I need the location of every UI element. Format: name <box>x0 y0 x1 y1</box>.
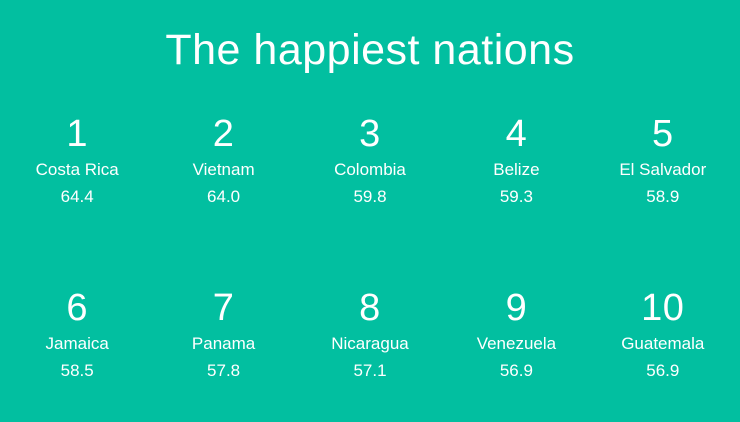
country-name: Nicaragua <box>331 333 409 355</box>
country-name: Colombia <box>334 159 406 181</box>
ranking-item: 2 Vietnam 64.0 <box>150 114 296 208</box>
infographic-root: The happiest nations 1 Costa Rica 64.4 2… <box>0 0 740 422</box>
score-value: 58.9 <box>646 186 679 208</box>
ranking-item: 4 Belize 59.3 <box>443 114 589 208</box>
country-name: Panama <box>192 333 255 355</box>
score-value: 64.0 <box>207 186 240 208</box>
country-name: Costa Rica <box>36 159 119 181</box>
country-name: El Salvador <box>619 159 706 181</box>
ranking-row: 1 Costa Rica 64.4 2 Vietnam 64.0 3 Colom… <box>0 114 740 208</box>
country-name: Jamaica <box>46 333 109 355</box>
rank-number: 3 <box>359 114 381 154</box>
score-value: 57.8 <box>207 360 240 382</box>
score-value: 59.8 <box>353 186 386 208</box>
score-value: 59.3 <box>500 186 533 208</box>
page-title: The happiest nations <box>165 29 574 72</box>
rank-number: 7 <box>213 288 235 328</box>
score-value: 64.4 <box>61 186 94 208</box>
ranking-item: 1 Costa Rica 64.4 <box>4 114 150 208</box>
score-value: 56.9 <box>500 360 533 382</box>
country-name: Guatemala <box>621 333 704 355</box>
rank-number: 2 <box>213 114 235 154</box>
ranking-item: 3 Colombia 59.8 <box>297 114 443 208</box>
rank-number: 6 <box>66 288 88 328</box>
country-name: Vietnam <box>193 159 255 181</box>
ranking-item: 5 El Salvador 58.9 <box>590 114 736 208</box>
score-value: 58.5 <box>61 360 94 382</box>
rank-number: 10 <box>641 288 684 328</box>
rank-number: 5 <box>652 114 674 154</box>
score-value: 57.1 <box>353 360 386 382</box>
rank-number: 9 <box>506 288 528 328</box>
ranking-item: 6 Jamaica 58.5 <box>4 288 150 382</box>
score-value: 56.9 <box>646 360 679 382</box>
ranking-grid: 1 Costa Rica 64.4 2 Vietnam 64.0 3 Colom… <box>0 100 740 422</box>
ranking-row: 6 Jamaica 58.5 7 Panama 57.8 8 Nicaragua… <box>0 288 740 382</box>
title-section: The happiest nations <box>0 0 740 100</box>
country-name: Venezuela <box>477 333 556 355</box>
ranking-item: 7 Panama 57.8 <box>150 288 296 382</box>
rank-number: 4 <box>506 114 528 154</box>
rank-number: 8 <box>359 288 381 328</box>
country-name: Belize <box>493 159 539 181</box>
ranking-item: 10 Guatemala 56.9 <box>590 288 736 382</box>
rank-number: 1 <box>66 114 88 154</box>
ranking-item: 8 Nicaragua 57.1 <box>297 288 443 382</box>
ranking-item: 9 Venezuela 56.9 <box>443 288 589 382</box>
